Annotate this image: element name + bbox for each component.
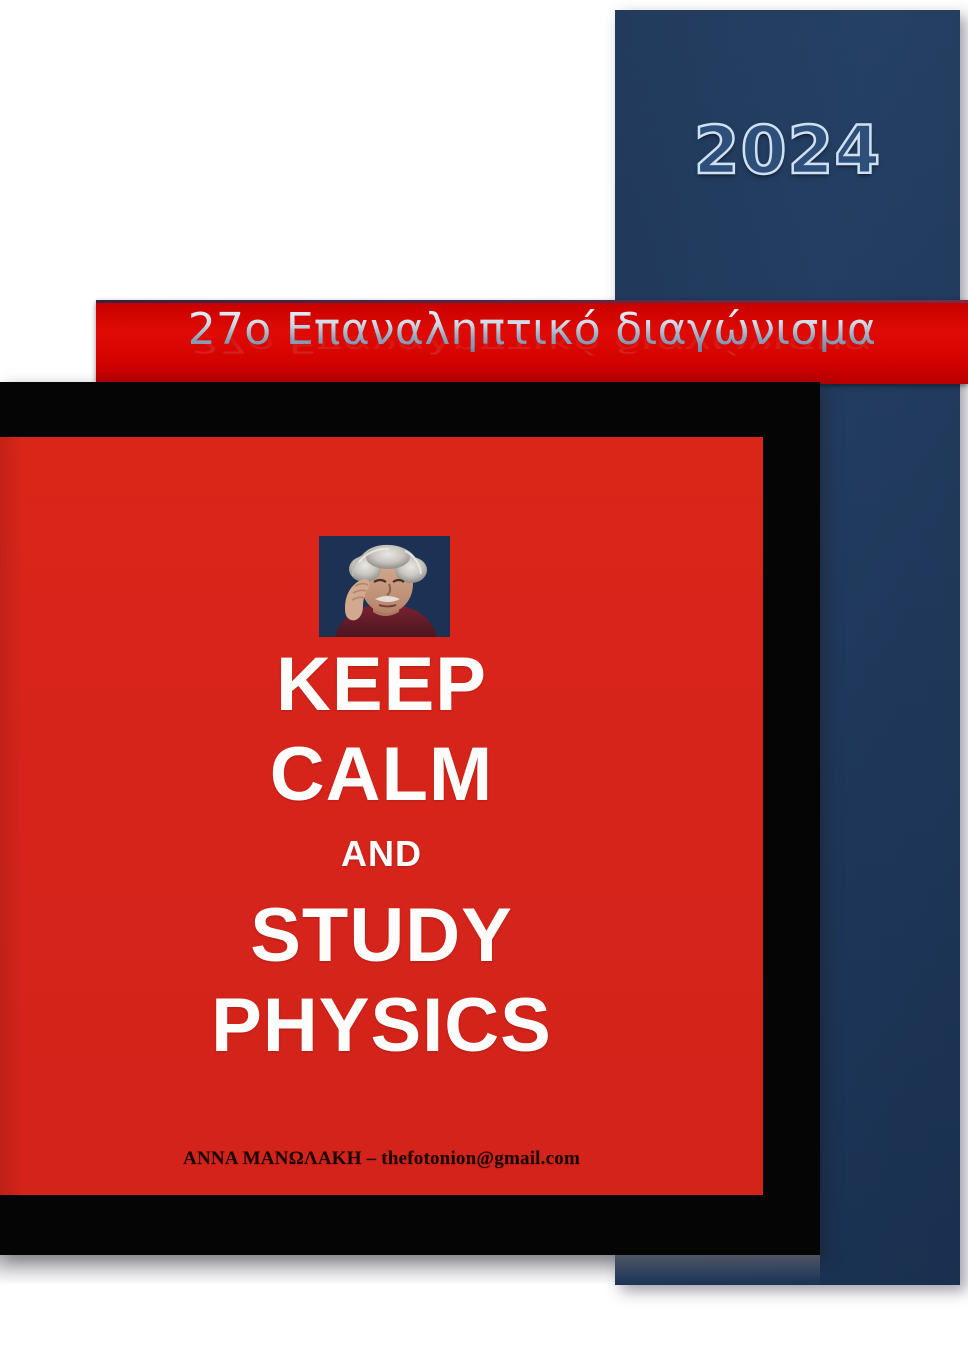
red-title-banner: 27ο Επαναληπτικό διαγώνισμα 27ο Επαναληπ… — [96, 300, 968, 384]
poster-line-keep: KEEP — [0, 647, 763, 723]
year-label: 2024 — [615, 118, 960, 184]
poster-line-study: STUDY — [0, 898, 763, 974]
poster-credit-line: ΑΝΝΑ ΜΑΝΩΛΑΚΗ – thefotonion@gmail.com — [0, 1148, 763, 1170]
banner-title-reflection: 27ο Επαναληπτικό διαγώνισμα — [96, 332, 968, 356]
slide-canvas: 2024 27ο Επαναληπτικό διαγώνισμα 27ο Επα… — [0, 0, 968, 1352]
poster-line-and: AND — [0, 836, 763, 872]
poster-line-physics: PHYSICS — [0, 988, 763, 1064]
einstein-photo — [319, 536, 450, 637]
poster-line-calm: CALM — [0, 737, 763, 813]
